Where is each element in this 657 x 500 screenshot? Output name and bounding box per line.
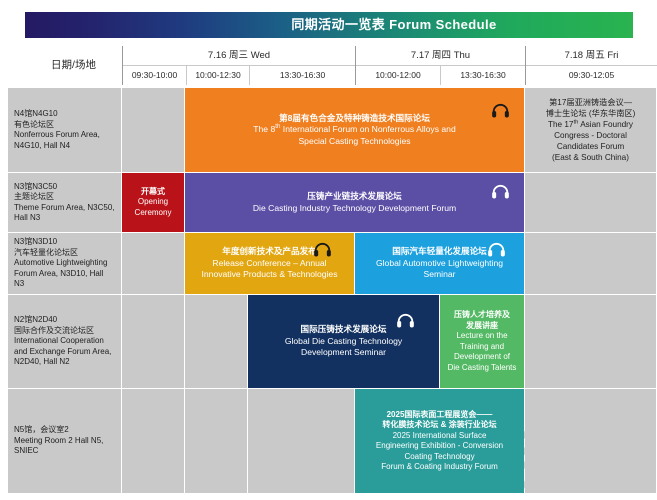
venue-label-2: N3馆N3D10 汽车轻量化论坛区 Automotive Lightweight… [8,233,121,294]
header-slot-1: 10:00-12:30 [187,66,249,85]
empty-cell-r2c6 [525,173,656,232]
event-asian-en-4: (East & South China) [552,152,629,163]
venue-label-3-en: International Cooperation and Exchange F… [14,336,115,368]
event-surface-en-4: Forum & Coating Industry Forum [381,462,497,473]
event-die-casting-talents-lecture[interactable]: 压铸人才培养及 发展讲座 Lecture on the Training and… [440,295,524,388]
empty-cell-r4c1 [122,295,184,388]
venue-label-0: N4馆N4G10 有色论坛区 Nonferrous Forum Area, N4… [8,88,121,172]
venue-label-1-en: Theme Forum Area, N3C50, Hall N3 [14,203,115,224]
empty-cell-r4c6 [525,295,656,388]
event-surface-en-1: 2025 International Surface [393,431,487,442]
event-talents-en-1: Lecture on the [456,331,507,342]
venue-label-0-en: Nonferrous Forum Area, N4G10, Hall N4 [14,130,115,151]
event-asian-en-3: Candidates Forum [557,141,624,152]
event-talents-en-4: Die Casting Talents [448,363,517,374]
venue-label-4: N5馆，会议室2 Meeting Room 2 Hall N5, SNIEC [8,389,121,493]
event-die-industry-zh: 压铸产业链技术发展论坛 [307,191,402,203]
venue-label-1-zh2: 主题论坛区 [14,192,115,203]
event-asian-zh-2: 博士生论坛 (华东华南区) [546,108,636,119]
header-corner-label: 日期/场地 [25,46,122,85]
schedule-title-bar: 同期活动一览表 Forum Schedule [25,12,633,38]
header-slot-5: 09:30-12:05 [526,66,657,85]
event-auto-zh: 国际汽车轻量化发展论坛 [392,246,487,258]
empty-cell-r5c1 [122,389,184,493]
event-auto-en-2: Seminar [424,269,456,281]
header-slot-4: 13:30-16:30 [441,66,525,85]
schedule-grid: N4馆N4G10 有色论坛区 Nonferrous Forum Area, N4… [0,88,657,500]
event-opening-en-1: Opening [138,197,168,208]
header-slot-2: 13:30-16:30 [250,66,355,85]
empty-cell-r3c6 [525,233,656,294]
event-nonferrous-forum[interactable]: 第8届有色合金及特种铸造技术国际论坛 The 8th International… [185,88,524,172]
event-global-die-casting-seminar[interactable]: 国际压铸技术发展论坛 Global Die Casting Technology… [248,295,439,388]
forum-schedule-page: 上吉祥 同期活动一览表 Forum Schedule 日期/场地 7.16 周三… [0,0,657,500]
header-day-2: 7.18 周五 Fri [526,46,657,66]
venue-label-1: N3馆N3C50 主题论坛区 Theme Forum Area, N3C50, … [8,173,121,232]
event-asian-en-2: Congress - Doctoral [554,130,627,141]
event-talents-en-3: Development of [454,352,510,363]
event-auto-en-1: Global Automotive Lightweighting [376,258,503,270]
empty-cell-r1c1 [122,88,184,172]
event-global-die-en-2: Development Seminar [301,347,386,359]
venue-label-0-zh2: 有色论坛区 [14,120,115,131]
event-global-die-zh: 国际压铸技术发展论坛 [301,324,387,336]
event-opening-zh: 开幕式 [141,187,165,198]
page-title: 同期活动一览表 Forum Schedule [25,12,633,38]
event-opening-en-2: Ceremony [135,208,172,219]
event-die-casting-industry-forum[interactable]: 压铸产业链技术发展论坛 Die Casting Industry Technol… [185,173,524,232]
empty-cell-r5c2 [185,389,247,493]
event-talents-zh-2: 发展讲座 [466,321,498,332]
event-global-die-en-1: Global Die Casting Technology [285,336,402,348]
event-release-en-2: Innovative Products & Technologies [202,269,338,281]
headphones-icon [396,312,415,329]
event-opening-ceremony[interactable]: 开幕式 Opening Ceremony [122,173,184,232]
venue-label-0-zh1: N4馆N4G10 [14,109,115,120]
header-day-0: 7.16 周三 Wed [123,46,355,66]
event-asian-foundry-congress[interactable]: 第17届亚洲铸造会议— 博士生论坛 (华东华南区) The 17th Asian… [525,88,656,172]
empty-cell-r4c2 [185,295,247,388]
event-nonferrous-forum-en-1: The 8th International Forum on Nonferrou… [253,124,455,136]
header-day-1: 7.17 周四 Thu [356,46,525,66]
event-release-zh: 年度创新技术及产品发布 [222,246,317,258]
headphones-icon [491,183,510,200]
header-slot-3: 10:00-12:00 [356,66,440,85]
venue-label-2-zh2: 汽车轻量化论坛区 [14,248,115,259]
empty-cell-r5c3 [248,389,354,493]
venue-label-1-zh1: N3馆N3C50 [14,182,115,193]
venue-label-3-zh1: N2馆N2D40 [14,315,115,326]
venue-label-3: N2馆N2D40 国际合作及交流论坛区 International Cooper… [8,295,121,388]
event-surface-engineering-exhibition[interactable]: 2025国际表面工程展览会—— 转化膜技术论坛 & 涂装行业论坛 2025 In… [355,389,524,493]
event-talents-zh-1: 压铸人才培养及 [454,310,510,321]
header-slot-0: 09:30-10:00 [123,66,186,85]
headphones-icon [487,241,506,258]
headphones-icon [313,241,332,258]
event-nonferrous-forum-zh: 第8届有色合金及特种铸造技术国际论坛 [279,113,430,125]
venue-label-4-zh1: N5馆，会议室2 [14,425,115,436]
venue-label-4-en: Meeting Room 2 Hall N5, SNIEC [14,436,115,457]
event-surface-en-2: Engineering Exhibition - Conversion [376,441,503,452]
headphones-icon [491,102,510,119]
event-surface-zh-1: 2025国际表面工程展览会—— [387,410,493,421]
event-die-industry-en: Die Casting Industry Technology Developm… [253,203,456,215]
event-release-en-1: Release Conference – Annual [212,258,326,270]
event-asian-zh-1: 第17届亚洲铸造会议— [549,97,632,108]
venue-label-2-en: Automotive Lightweighting Forum Area, N3… [14,258,115,290]
event-release-conference[interactable]: 年度创新技术及产品发布 Release Conference – Annual … [185,233,354,294]
empty-cell-r3c1 [122,233,184,294]
venue-label-3-zh2: 国际合作及交流论坛区 [14,326,115,337]
event-automotive-lightweighting-seminar[interactable]: 国际汽车轻量化发展论坛 Global Automotive Lightweigh… [355,233,524,294]
event-talents-en-2: Training and [460,342,504,353]
event-surface-zh-2: 转化膜技术论坛 & 涂装行业论坛 [382,420,496,431]
event-surface-en-3: Coating Technology [404,452,474,463]
venue-label-2-zh1: N3馆N3D10 [14,237,115,248]
empty-cell-r5c6 [525,389,656,493]
schedule-header: 日期/场地 7.16 周三 Wed 7.17 周四 Thu 7.18 周五 Fr… [25,46,657,85]
event-asian-en-1: The 17th Asian Foundry [548,119,633,130]
event-nonferrous-forum-en-2: Special Casting Technologies [298,136,410,148]
